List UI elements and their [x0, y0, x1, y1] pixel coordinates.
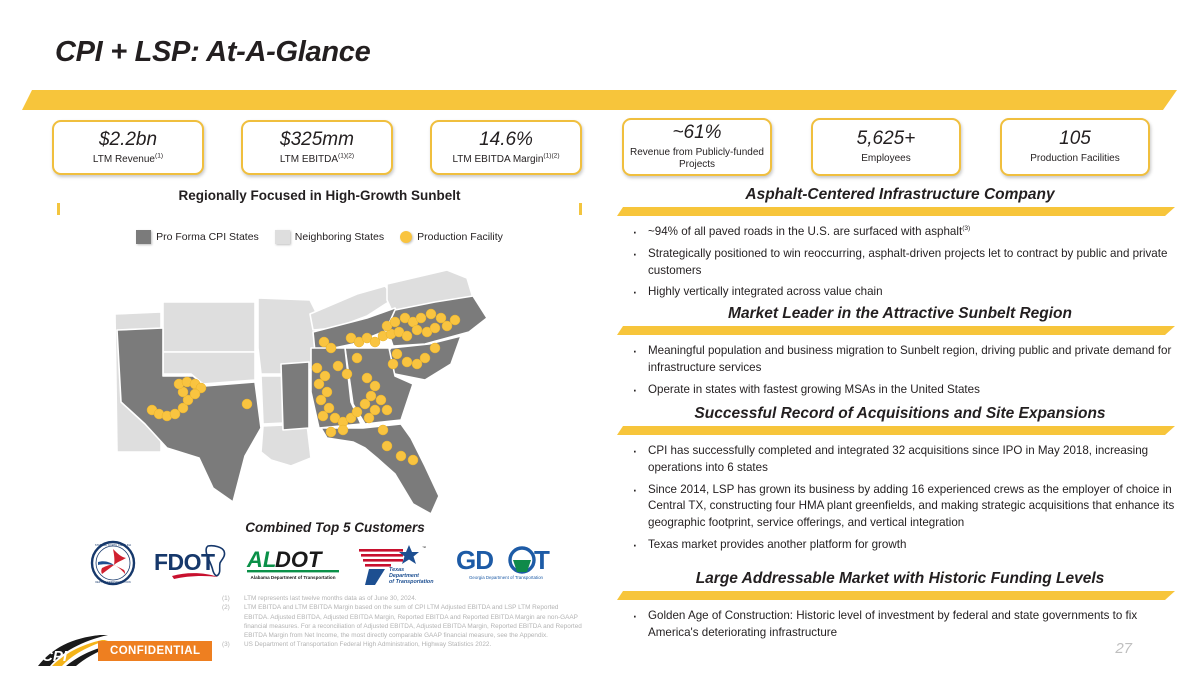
- kpi-value: $2.2bn: [99, 130, 157, 151]
- kpi-card-revenue: $2.2bn LTM Revenue(1): [52, 120, 204, 175]
- svg-text:Georgia Department of Transpor: Georgia Department of Transportation: [469, 575, 544, 580]
- section-asphalt-centered: Asphalt-Centered Infrastructure Company …: [620, 186, 1180, 306]
- section-market-leader: Market Leader in the Attractive Sunbelt …: [620, 305, 1180, 403]
- map-legend: Pro Forma CPI States Neighboring States …: [57, 230, 582, 244]
- kpi-label: Revenue from Publicly-funded Projects: [624, 147, 770, 170]
- section-bullets: Golden Age of Construction: Historic lev…: [620, 608, 1180, 642]
- page-title: CPI + LSP: At-A-Glance: [55, 36, 370, 69]
- section-bullets: CPI has successfully completed and integ…: [620, 443, 1180, 554]
- footnote-text: US Department of Transportation Federal …: [244, 640, 491, 649]
- legend-item-production-facility: Production Facility: [400, 231, 503, 243]
- svg-text:™: ™: [422, 545, 426, 550]
- kpi-card-public-revenue: ~61% Revenue from Publicly-funded Projec…: [622, 118, 772, 176]
- kpi-value: 105: [1059, 129, 1091, 150]
- footnote-text: LTM represents last twelve months data a…: [244, 594, 417, 603]
- kpi-card-facilities: 105 Production Facilities: [1000, 118, 1150, 176]
- bullet-item: Highly vertically integrated across valu…: [620, 284, 1180, 301]
- dark-square-icon: [136, 230, 151, 244]
- map-section-title: Regionally Focused in High-Growth Sunbel…: [57, 188, 582, 203]
- bullet-item: Meaningful population and business migra…: [620, 343, 1180, 377]
- bullet-item: CPI has successfully completed and integ…: [620, 443, 1180, 477]
- legend-item-cpi-states: Pro Forma CPI States: [136, 230, 259, 244]
- bullet-item: ~94% of all paved roads in the U.S. are …: [620, 224, 1180, 241]
- section-heading: Large Addressable Market with Historic F…: [620, 570, 1180, 588]
- sunbelt-map: [95, 252, 575, 537]
- legend-label: Pro Forma CPI States: [156, 231, 259, 243]
- section-bullets: ~94% of all paved roads in the U.S. are …: [620, 224, 1180, 301]
- kpi-label: LTM Revenue(1): [89, 154, 167, 166]
- bullet-item: Operate in states with fastest growing M…: [620, 382, 1180, 399]
- svg-text:AL: AL: [246, 547, 276, 572]
- svg-text:CPI: CPI: [42, 648, 68, 665]
- svg-text:T: T: [534, 545, 550, 575]
- confidential-badge: CONFIDENTIAL: [98, 641, 212, 661]
- section-addressable-market: Large Addressable Market with Historic F…: [620, 570, 1180, 647]
- yellow-dot-icon: [400, 231, 412, 243]
- kpi-label: LTM EBITDA Margin(1)(2): [448, 154, 563, 166]
- bullet-item: Strategically positioned to win reoccurr…: [620, 246, 1180, 280]
- svg-text:GD: GD: [456, 545, 493, 575]
- section-acquisitions: Successful Record of Acquisitions and Si…: [620, 405, 1180, 559]
- customers-title: Combined Top 5 Customers: [95, 520, 575, 535]
- bullet-item: Since 2014, LSP has grown its business b…: [620, 482, 1180, 532]
- kpi-card-employees: 5,625+ Employees: [811, 118, 961, 176]
- bullet-item: Golden Age of Construction: Historic lev…: [620, 608, 1180, 642]
- legend-label: Production Facility: [417, 231, 503, 243]
- kpi-label: Employees: [857, 153, 914, 165]
- state-mississippi: [281, 362, 309, 430]
- kpi-value: 14.6%: [479, 130, 533, 151]
- kpi-value: 5,625+: [857, 129, 916, 150]
- section-bullets: Meaningful population and business migra…: [620, 343, 1180, 398]
- footnote-text: LTM EBITDA and LTM EBITDA Margin based o…: [244, 603, 582, 640]
- state-kansas: [163, 302, 255, 352]
- kpi-card-ebitda-margin: 14.6% LTM EBITDA Margin(1)(2): [430, 120, 582, 175]
- svg-text:of Transportation: of Transportation: [389, 579, 434, 585]
- svg-text:DOT: DOT: [275, 547, 323, 572]
- txdot-logo: ™ Texas Department of Transportation: [355, 540, 441, 586]
- kpi-label: LTM EBITDA(1)(2): [276, 154, 358, 166]
- bullet-item: Texas market provides another platform f…: [620, 537, 1180, 554]
- map-section-bracket: Regionally Focused in High-Growth Sunbel…: [57, 200, 582, 222]
- legend-item-neighboring-states: Neighboring States: [275, 230, 384, 244]
- gdot-logo: GD T Georgia Department of Transportatio…: [454, 540, 558, 586]
- kpi-value: $325mm: [280, 130, 354, 151]
- light-square-icon: [275, 230, 290, 244]
- section-banner: [617, 426, 1175, 435]
- footnote-row: (3) US Department of Transportation Fede…: [222, 640, 582, 649]
- section-heading: Market Leader in the Attractive Sunbelt …: [620, 305, 1180, 323]
- legend-label: Neighboring States: [295, 231, 384, 243]
- ncdot-logo: STATE OF NORTH CAROLINA DEPT OF TRANSPOR…: [88, 540, 138, 586]
- footnote-number: (1): [222, 594, 238, 603]
- svg-text:DEPT OF TRANSPORTATION: DEPT OF TRANSPORTATION: [95, 580, 130, 584]
- footnote-number: (3): [222, 640, 238, 649]
- section-heading: Successful Record of Acquisitions and Si…: [620, 405, 1180, 423]
- footnote-row: (1) LTM represents last twelve months da…: [222, 594, 582, 603]
- slide-root: CPI + LSP: At-A-Glance $2.2bn LTM Revenu…: [0, 0, 1200, 675]
- section-heading: Asphalt-Centered Infrastructure Company: [620, 186, 1180, 204]
- section-banner: [617, 326, 1175, 335]
- kpi-value: ~61%: [672, 123, 721, 144]
- footnote-row: (2) LTM EBITDA and LTM EBITDA Margin bas…: [222, 603, 582, 640]
- footnotes: (1) LTM represents last twelve months da…: [222, 594, 582, 650]
- kpi-label: Production Facilities: [1026, 153, 1123, 165]
- section-banner: [617, 591, 1175, 600]
- section-banner: [617, 207, 1175, 216]
- kpi-card-ebitda: $325mm LTM EBITDA(1)(2): [241, 120, 393, 175]
- svg-text:Alabama Department of Transpor: Alabama Department of Transportation: [251, 575, 336, 580]
- svg-text:STATE OF NORTH CAROLINA: STATE OF NORTH CAROLINA: [95, 543, 131, 547]
- footnote-number: (2): [222, 603, 238, 640]
- state-florida: [321, 424, 439, 514]
- customer-logos: STATE OF NORTH CAROLINA DEPT OF TRANSPOR…: [88, 538, 558, 588]
- aldot-logo: AL DOT Alabama Department of Transportat…: [245, 540, 341, 586]
- fdot-logo: FDOT: [152, 540, 232, 586]
- title-banner: [22, 90, 1177, 110]
